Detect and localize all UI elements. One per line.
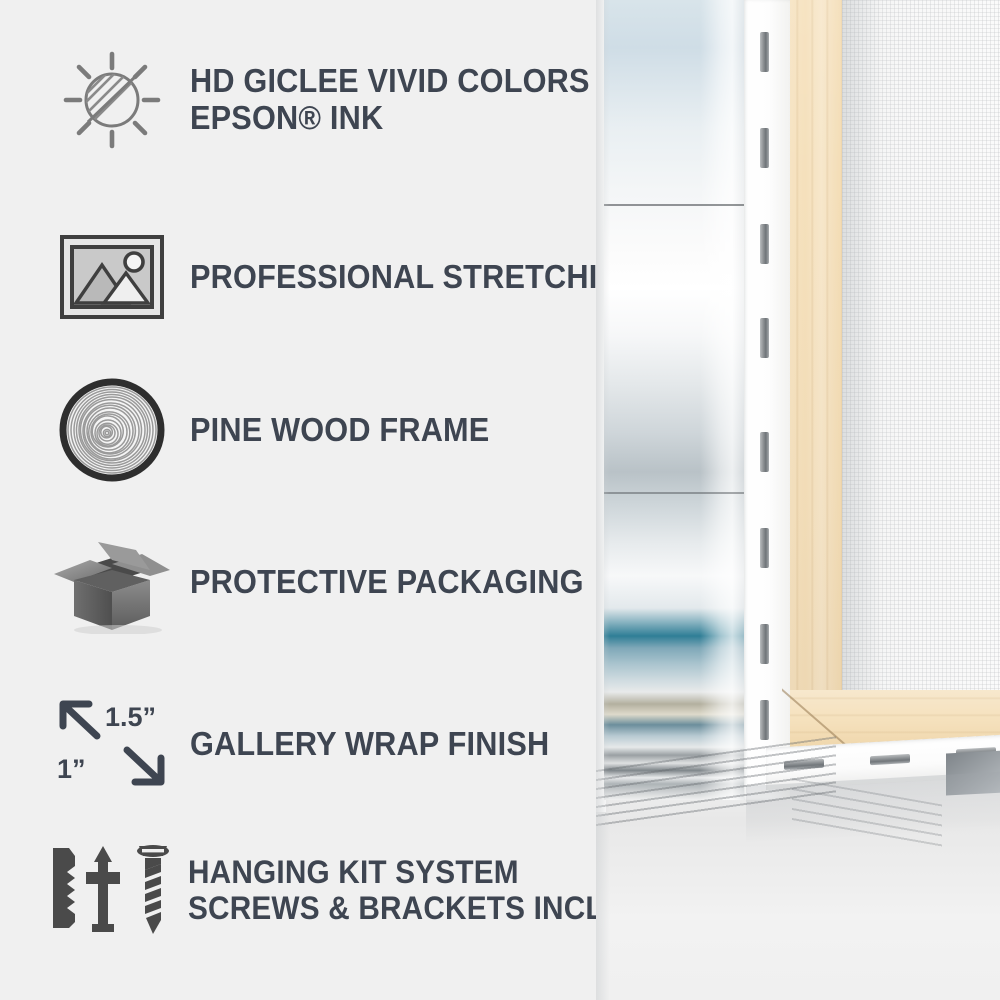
picture-frame-icon bbox=[48, 225, 176, 329]
wrap-depth-label: 1.5” bbox=[105, 702, 156, 732]
product-feature-infographic: HD GICLEE VIVID COLORS EPSON® INK PROFES… bbox=[0, 0, 1000, 1000]
feature-label-line1: PINE WOOD FRAME bbox=[190, 411, 489, 448]
canvas-back-shadow bbox=[842, 0, 882, 700]
staple bbox=[760, 624, 769, 664]
staple bbox=[760, 528, 769, 568]
feature-label: GALLERY WRAP FINISH bbox=[190, 726, 549, 763]
staple bbox=[760, 432, 769, 472]
feature-item-protective-packaging: PROTECTIVE PACKAGING bbox=[48, 530, 613, 634]
feature-label-line1: PROTECTIVE PACKAGING bbox=[190, 563, 584, 600]
open-box-icon bbox=[48, 530, 176, 634]
staple bbox=[760, 318, 769, 358]
wrap-width-label: 1” bbox=[57, 754, 86, 784]
canvas-back-corner-photo bbox=[596, 0, 1000, 1000]
feature-label-line2: EPSON® INK bbox=[190, 100, 590, 137]
feature-item-professional-stretching: PROFESSIONAL STRETCHING bbox=[48, 225, 678, 329]
tree-rings-icon bbox=[48, 378, 176, 482]
feature-label-line1: GALLERY WRAP FINISH bbox=[190, 725, 549, 762]
feature-label: HD GICLEE VIVID COLORS EPSON® INK bbox=[190, 63, 590, 137]
feature-item-hd-giclee: HD GICLEE VIVID COLORS EPSON® INK bbox=[48, 48, 620, 152]
staple bbox=[760, 224, 769, 264]
feature-label: PROFESSIONAL STRETCHING bbox=[190, 259, 644, 296]
feature-label-line1: HANGING KIT SYSTEM bbox=[188, 854, 519, 890]
gallery-wrap-arrows-icon: 1.5” 1” bbox=[48, 692, 176, 796]
feature-label-line1: PROFESSIONAL STRETCHING bbox=[190, 258, 644, 295]
feature-label: PINE WOOD FRAME bbox=[190, 412, 489, 449]
hanging-hardware-icon bbox=[42, 838, 174, 942]
staple bbox=[760, 700, 769, 740]
feature-label-line1: HD GICLEE VIVID COLORS bbox=[190, 62, 590, 99]
feature-label: PROTECTIVE PACKAGING bbox=[190, 564, 584, 601]
photo-left-seam bbox=[596, 0, 610, 1000]
feature-item-pine-wood-frame: PINE WOOD FRAME bbox=[48, 378, 512, 482]
feature-list: HD GICLEE VIVID COLORS EPSON® INK PROFES… bbox=[0, 0, 660, 1000]
staple bbox=[760, 128, 769, 168]
staple bbox=[760, 32, 769, 72]
sun-brightness-icon bbox=[48, 48, 176, 152]
staple bbox=[870, 754, 910, 765]
feature-item-gallery-wrap: 1.5” 1” GALLERY WRAP FINISH bbox=[48, 692, 576, 796]
pine-bar-shading bbox=[790, 0, 842, 738]
